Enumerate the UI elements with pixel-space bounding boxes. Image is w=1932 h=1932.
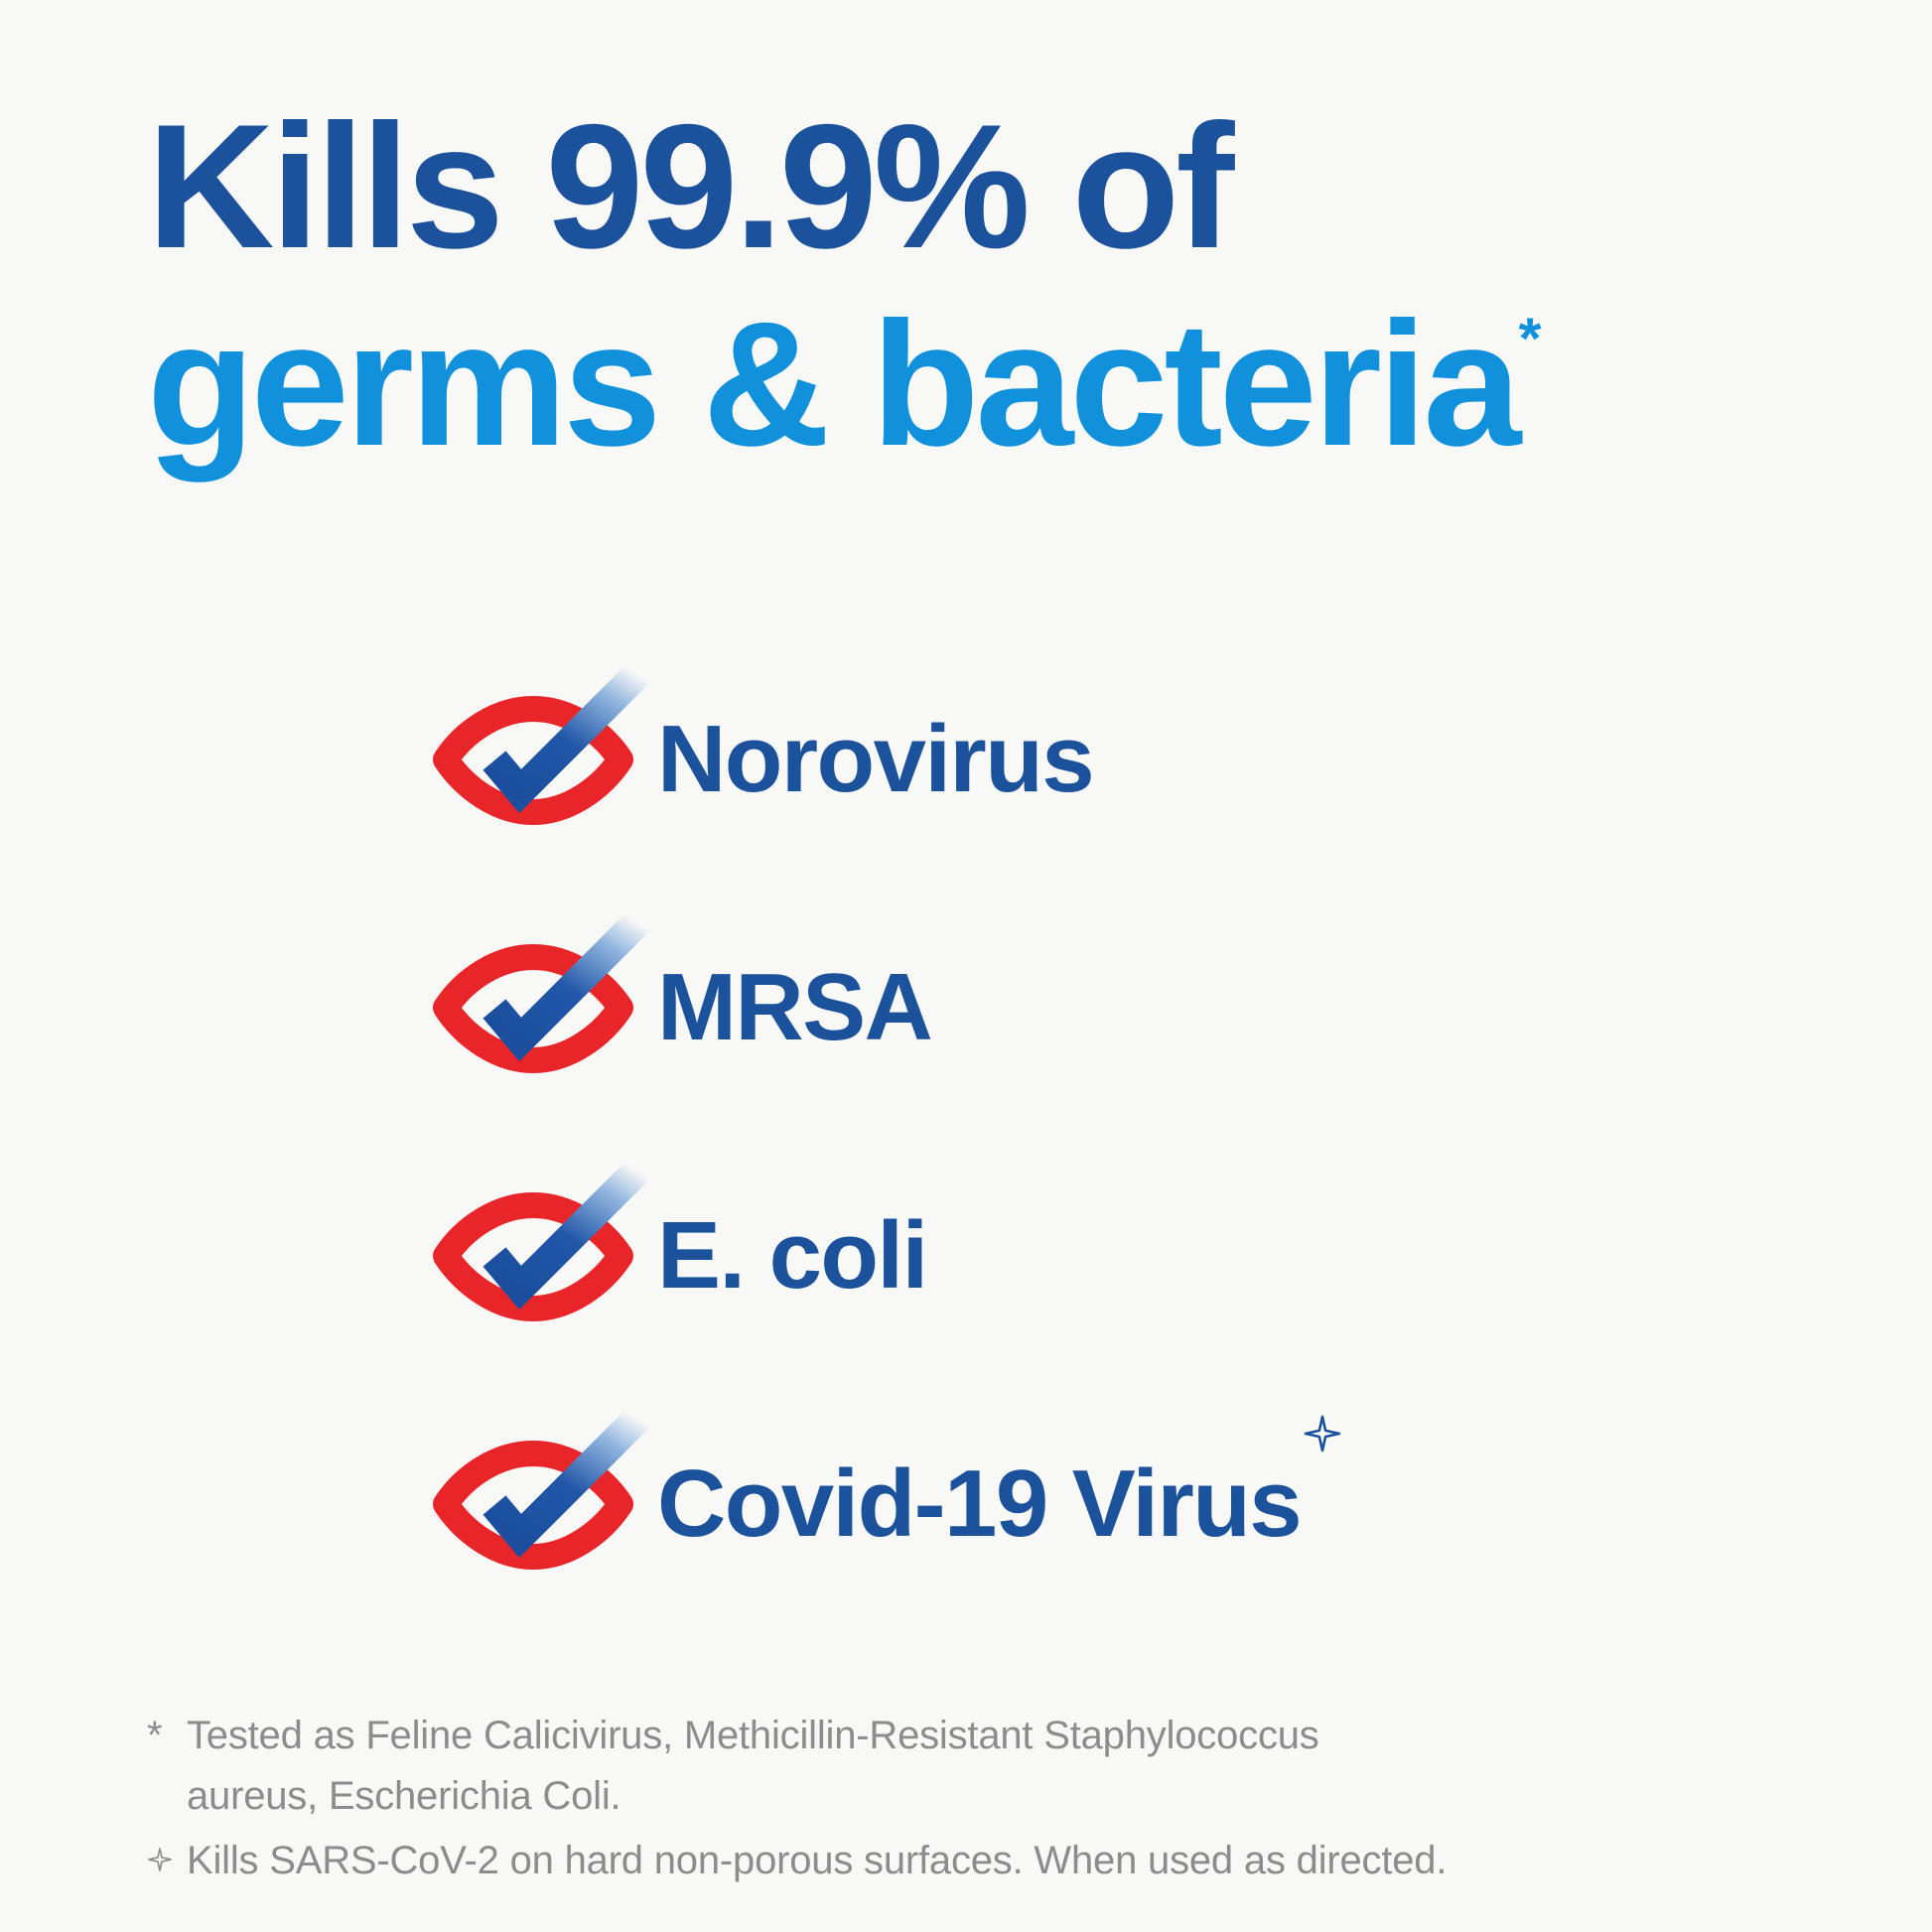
list-item: E. coli [417,1132,1807,1380]
list-item-label: Covid-19 Virus [657,1456,1342,1552]
red-lens-blue-check-icon [417,660,665,859]
list-item-label: E. coli [657,1208,927,1304]
footnote-sparkle-text: Kills SARS-CoV-2 on hard non-porous surf… [187,1831,1636,1891]
germ-list: Norovirus [417,635,1807,1628]
footnote-sparkle: Kills SARS-CoV-2 on hard non-porous surf… [147,1831,1636,1891]
list-item: Covid-19 Virus [417,1380,1807,1628]
red-lens-blue-check-icon [417,908,665,1107]
list-item-label: Norovirus [657,712,1093,807]
red-lens-blue-check-icon [417,1405,665,1603]
sparkle-star-icon [1303,1414,1342,1453]
headline-line-2-text: germs & bacteria [147,285,1517,483]
headline-line-2: germs & bacteria* [147,285,1540,483]
headline: Kills 99.9% of germs & bacteria* [147,87,1835,483]
headline-asterisk: * [1519,307,1542,371]
list-item: MRSA [417,884,1807,1132]
footnotes: * Tested as Feline Calicivirus, Methicil… [147,1706,1636,1894]
promo-canvas: Kills 99.9% of germs & bacteria* [0,0,1932,1932]
sparkle-star-icon [147,1831,187,1872]
red-lens-blue-check-icon [417,1157,665,1355]
headline-line-1: Kills 99.9% of [147,87,1835,285]
asterisk-icon: * [147,1706,187,1766]
list-item: Norovirus [417,635,1807,884]
footnote-asterisk-text: Tested as Feline Calicivirus, Methicilli… [187,1706,1636,1827]
footnote-asterisk: * Tested as Feline Calicivirus, Methicil… [147,1706,1636,1827]
list-item-label: MRSA [657,960,931,1055]
